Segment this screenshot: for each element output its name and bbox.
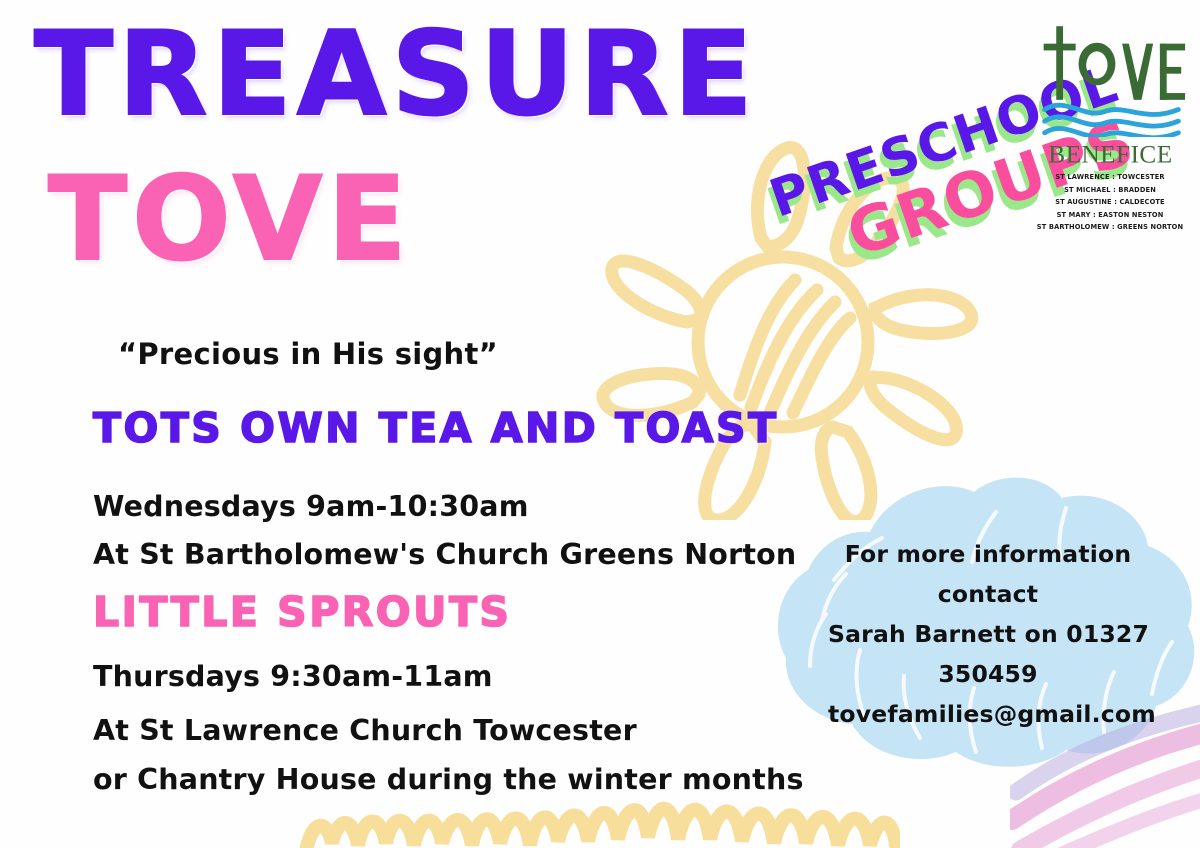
logo-wordmark-tove bbox=[1033, 22, 1188, 137]
logo-church-line-1: ST LAWRENCE : TOWCESTER bbox=[1030, 172, 1190, 182]
group-tots-detail-venue: At St Bartholomew's Church Greens Norton bbox=[93, 538, 796, 571]
logo-church-line-5: ST BARTHOLOMEW : GREENS NORTON bbox=[1030, 222, 1190, 232]
squiggle-doodle bbox=[300, 795, 900, 848]
poster-title-tove: TOVE bbox=[48, 162, 412, 278]
contact-line-email[interactable]: tovefamilies@gmail.com bbox=[828, 694, 1148, 734]
logo-wave-lines bbox=[1044, 105, 1178, 137]
contact-line-contact: contact bbox=[828, 574, 1148, 614]
poster-canvas: TREASURE TOVE “Precious in His sight” PR… bbox=[0, 0, 1200, 848]
group-sprouts-detail-venue: At St Lawrence Church Towcester bbox=[93, 714, 637, 747]
contact-information-block: For more information contact Sarah Barne… bbox=[828, 534, 1148, 734]
group-heading-little-sprouts: LITTLE SPROUTS bbox=[93, 592, 511, 633]
logo-wordmark-benefice: BENEFICE bbox=[1033, 139, 1188, 169]
poster-title-treasure: TREASURE bbox=[34, 17, 758, 133]
group-sprouts-detail-time: Thursdays 9:30am-11am bbox=[93, 660, 493, 693]
contact-line-phone-continued: 350459 bbox=[828, 654, 1148, 694]
contact-line-intro: For more information bbox=[828, 534, 1148, 574]
group-tots-detail-time: Wednesdays 9am-10:30am bbox=[93, 490, 529, 523]
logo-church-line-4: ST MARY : EASTON NESTON bbox=[1030, 210, 1190, 220]
tove-benefice-logo: BENEFICE ST LAWRENCE : TOWCESTER ST MICH… bbox=[1030, 22, 1190, 232]
svg-text:BENEFICE: BENEFICE bbox=[1048, 142, 1172, 169]
logo-church-line-2: ST MICHAEL : BRADDEN bbox=[1030, 185, 1190, 195]
group-sprouts-detail-winter-venue: or Chantry House during the winter month… bbox=[93, 763, 804, 796]
group-heading-tots-own-tea-and-toast: TOTS OWN TEA AND TOAST bbox=[93, 408, 779, 449]
logo-church-line-3: ST AUGUSTINE : CALDECOTE bbox=[1030, 197, 1190, 207]
contact-line-name-phone: Sarah Barnett on 01327 bbox=[828, 614, 1148, 654]
poster-tagline: “Precious in His sight” bbox=[118, 337, 498, 371]
